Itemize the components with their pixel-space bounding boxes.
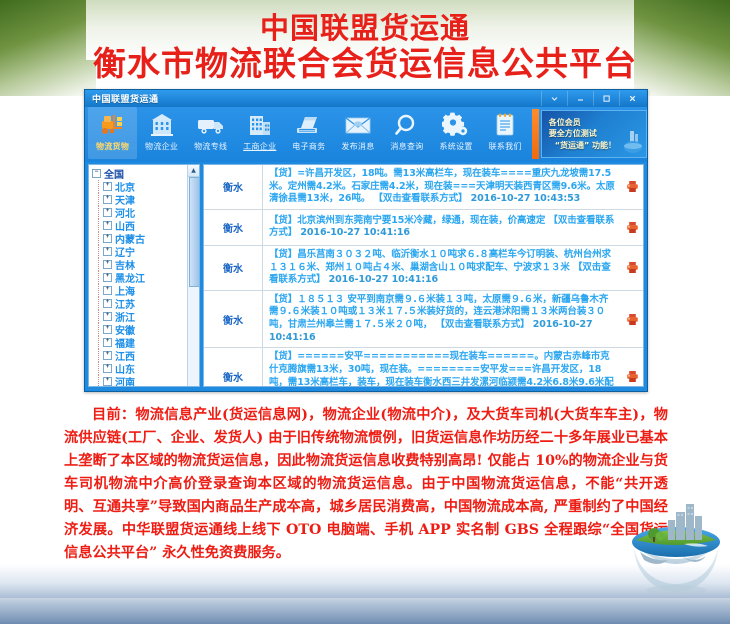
row-message-text: 【货】昌乐莒南３０３２吨、临沂衡水１０吨求６.８高栏车今订明装、杭州台州求１３１…	[263, 246, 621, 290]
row-message-text: 【货】======安平===========现在装车======。内蒙古赤峰市克…	[263, 348, 621, 387]
row-message-text: 【货】=许昌开发区，18吨。需13米高栏车，现在装车====重庆九龙坡需17.5…	[263, 165, 621, 209]
row-city-label: 衡水	[204, 291, 263, 348]
member-notice-banner[interactable]: 各位会员 要全方位测试 “货运通” 功能！	[541, 110, 647, 158]
row-city-label: 衡水	[204, 165, 263, 209]
printer-icon[interactable]	[621, 246, 643, 290]
table-row[interactable]: 衡水【货】昌乐莒南３０３２吨、临沂衡水１０吨求６.８高栏车今订明装、杭州台州求１…	[204, 246, 643, 291]
scroll-up-icon[interactable]: ▲	[188, 165, 199, 177]
chevron-down-icon[interactable]	[541, 91, 567, 106]
sidebar-scrollbar[interactable]: ▲	[187, 165, 199, 386]
tree-node-江苏[interactable]: +江苏	[92, 297, 199, 310]
tree-expander-icon[interactable]: +	[103, 312, 112, 321]
region-tree: − 全国 +北京+天津+河北+山西+内蒙古+辽宁+吉林+黑龙江+上海+江苏+浙江…	[89, 165, 199, 387]
tree-expander-icon[interactable]: +	[103, 338, 112, 347]
page-title-line2: 衡水市物流联合会货运信息公共平台	[0, 46, 730, 83]
background-bottom-sheen	[0, 598, 730, 624]
printer-icon[interactable]	[621, 348, 643, 387]
page-title: 中国联盟货运通 衡水市物流联合会货运信息公共平台	[0, 12, 730, 83]
table-row[interactable]: 衡水【货】１８５１３ 安平到南京需９.６米装１３吨，太原需９.６米，新疆乌鲁木齐…	[204, 291, 643, 349]
region-tree-sidebar[interactable]: − 全国 +北京+天津+河北+山西+内蒙古+辽宁+吉林+黑龙江+上海+江苏+浙江…	[88, 164, 200, 387]
tree-expander-icon[interactable]: −	[92, 169, 101, 178]
truck-icon	[196, 110, 226, 140]
minimize-icon[interactable]	[567, 91, 593, 106]
toolbar-label: 物流专线	[194, 141, 227, 152]
scrollbar-thumb[interactable]	[189, 177, 200, 287]
tree-node-天津[interactable]: +天津	[92, 193, 199, 206]
toolbar-item-gongshangqiye[interactable]: 工商企业	[235, 107, 284, 159]
document-icon	[491, 110, 519, 140]
window-body: − 全国 +北京+天津+河北+山西+内蒙古+辽宁+吉林+黑龙江+上海+江苏+浙江…	[85, 162, 647, 390]
globe-icon	[622, 127, 644, 155]
row-city-label: 衡水	[204, 246, 263, 290]
tree-expander-icon[interactable]: +	[103, 221, 112, 230]
toolbar-item-xiaoxichaxun[interactable]: 消息查询	[382, 107, 431, 159]
tree-node-辽宁[interactable]: +辽宁	[92, 245, 199, 258]
tree-node-label: 河南	[115, 374, 135, 387]
row-timestamp: 2016-10-27 10:43:53	[467, 193, 580, 204]
toolbar-item-lianxiwomen[interactable]: 联系我们	[481, 107, 530, 159]
toolbar-item-dianzishangwu[interactable]: 电子商务	[284, 107, 333, 159]
ecommerce-icon	[294, 110, 324, 140]
tree-expander-icon[interactable]: +	[103, 182, 112, 191]
row-timestamp: 2016-10-27 10:41:16	[325, 274, 438, 285]
gear-icon	[442, 110, 470, 140]
toolbar-item-wuliuqiye[interactable]: 物流企业	[137, 107, 186, 159]
tree-node-山东[interactable]: +山东	[92, 362, 199, 375]
toolbar-label: 消息查询	[390, 141, 423, 152]
toolbar-item-xitongshezhi[interactable]: 系统设置	[432, 107, 481, 159]
freight-list-rows: 衡水【货】=许昌开发区，18吨。需13米高栏车，现在装车====重庆九龙坡需17…	[204, 165, 643, 387]
row-message-text: 【货】１８５１３ 安平到南京需９.６米装１３吨，太原需９.６米，新疆乌鲁木齐需９…	[263, 291, 621, 348]
window-title: 中国联盟货运通	[92, 92, 159, 105]
tree-expander-icon[interactable]: +	[103, 208, 112, 217]
toolbar-label: 系统设置	[439, 141, 472, 152]
window-titlebar[interactable]: 中国联盟货运通	[85, 90, 647, 107]
tree-node-江西[interactable]: +江西	[92, 349, 199, 362]
building-icon	[148, 110, 176, 140]
tree-expander-icon[interactable]: +	[103, 377, 112, 386]
tree-node-黑龙江[interactable]: +黑龙江	[92, 271, 199, 284]
tree-node-北京[interactable]: +北京	[92, 180, 199, 193]
row-timestamp: 2016-10-27 10:41:16	[297, 227, 410, 238]
tree-node-浙江[interactable]: +浙江	[92, 310, 199, 323]
description-text: 目前：物流信息产业(货运信息网)，物流企业(物流中介)，及大货车司机(大货车车主…	[64, 404, 668, 565]
table-row[interactable]: 衡水【货】=许昌开发区，18吨。需13米高栏车，现在装车====重庆九龙坡需17…	[204, 165, 643, 210]
printer-icon[interactable]	[621, 291, 643, 348]
tree-expander-icon[interactable]: +	[103, 351, 112, 360]
search-icon	[393, 110, 421, 140]
tree-expander-icon[interactable]: +	[103, 364, 112, 373]
tree-node-福建[interactable]: +福建	[92, 336, 199, 349]
tree-node-安徽[interactable]: +安徽	[92, 323, 199, 336]
description-paragraph: 目前：物流信息产业(货运信息网)，物流企业(物流中介)，及大货车司机(大货车车主…	[64, 404, 668, 565]
maximize-icon[interactable]	[593, 91, 619, 106]
toolbar-label: 联系我们	[489, 141, 522, 152]
page-root: 中国联盟货运通 衡水市物流联合会货运信息公共平台 中国联盟货运通	[0, 0, 730, 624]
row-timestamp: 2016-10-27 10:41:16	[269, 319, 593, 343]
freight-list[interactable]: 衡水【货】=许昌开发区，18吨。需13米高栏车，现在装车====重庆九龙坡需17…	[203, 164, 644, 387]
tree-node-河南[interactable]: +河南	[92, 375, 199, 387]
page-title-line1: 中国联盟货运通	[0, 12, 730, 44]
toolbar-label: 工商企业	[243, 141, 276, 152]
close-icon[interactable]	[619, 91, 645, 106]
tree-expander-icon[interactable]: +	[103, 195, 112, 204]
tree-node-河北[interactable]: +河北	[92, 206, 199, 219]
tree-node-root[interactable]: − 全国	[92, 167, 199, 180]
toolbar-label: 电子商务	[292, 141, 325, 152]
application-window: 中国联盟货运通	[84, 89, 648, 392]
toolbar-label: 物流企业	[145, 141, 178, 152]
tree-expander-icon[interactable]: +	[103, 247, 112, 256]
tree-expander-icon[interactable]: +	[103, 234, 112, 243]
printer-icon[interactable]	[621, 210, 643, 245]
tree-expander-icon[interactable]: +	[103, 286, 112, 295]
toolbar-label: 物流货物	[96, 141, 129, 152]
row-city-label: 衡水	[204, 210, 263, 245]
globe-city-graphic	[624, 490, 728, 600]
tree-node-吉林[interactable]: +吉林	[92, 258, 199, 271]
tree-node-list: +北京+天津+河北+山西+内蒙古+辽宁+吉林+黑龙江+上海+江苏+浙江+安徽+福…	[92, 180, 199, 387]
tree-expander-icon[interactable]: +	[103, 260, 112, 269]
forklift-icon	[99, 110, 127, 140]
main-toolbar: 物流货物 物流企业	[85, 107, 647, 162]
printer-icon[interactable]	[621, 165, 643, 209]
tree-expander-icon[interactable]: +	[103, 325, 112, 334]
tree-node-上海[interactable]: +上海	[92, 284, 199, 297]
tree-expander-icon[interactable]: +	[103, 299, 112, 308]
tree-node-内蒙古[interactable]: +内蒙古	[92, 232, 199, 245]
toolbar-item-wuliuhuowu[interactable]: 物流货物	[88, 107, 137, 159]
office-icon	[246, 110, 274, 140]
envelope-icon	[343, 110, 373, 140]
table-row[interactable]: 衡水【货】======安平===========现在装车======。内蒙古赤峰…	[204, 348, 643, 387]
table-row[interactable]: 衡水【货】北京滨州到东莞南宁要15米冷藏，绿通，现在装，价高速定 【双击查看联系…	[204, 210, 643, 246]
window-controls	[541, 90, 645, 107]
toolbar-item-fabuxiaoxi[interactable]: 发布消息	[333, 107, 382, 159]
row-city-label: 衡水	[204, 348, 263, 387]
toolbar-divider	[532, 109, 539, 159]
toolbar-label: 发布消息	[341, 141, 374, 152]
row-message-text: 【货】北京滨州到东莞南宁要15米冷藏，绿通，现在装，价高速定 【双击查看联系方式…	[263, 212, 621, 243]
tree-expander-icon[interactable]: +	[103, 273, 112, 282]
tree-node-山西[interactable]: +山西	[92, 219, 199, 232]
toolbar-item-wuliuzhuanxian[interactable]: 物流专线	[186, 107, 235, 159]
